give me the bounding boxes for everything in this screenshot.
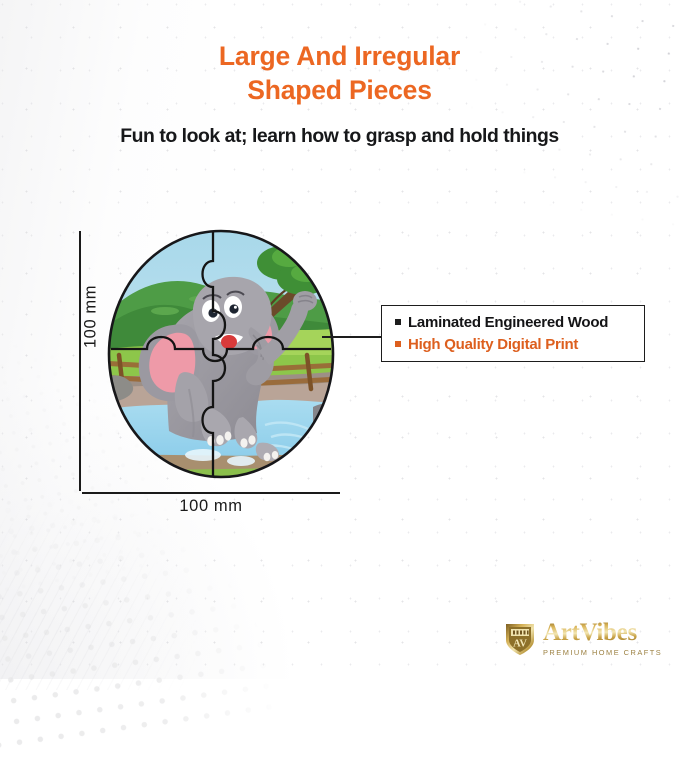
width-dimension-line [82,492,340,494]
width-dimension-label: 100 mm [82,497,340,516]
callout-leader-line [322,336,382,338]
page-subtitle: Fun to look at; learn how to grasp and h… [0,125,679,148]
callout-item-print: High Quality Digital Print [395,334,634,356]
square-bullet-icon [395,341,401,347]
callout-item-wood: Laminated Engineered Wood [395,312,634,334]
brand-name: ArtVibes [543,621,662,646]
page-title: Large And Irregular Shaped Pieces [0,40,679,107]
svg-text:AV: AV [513,639,527,650]
callout-item-wood-label: Laminated Engineered Wood [408,312,608,334]
shield-crest-icon: AV [503,620,537,658]
brand-tagline: PREMIUM HOME CRAFTS [543,648,662,657]
page-title-line-2: Shaped Pieces [0,74,679,108]
square-bullet-icon [395,319,401,325]
logo-text-block: ArtVibes PREMIUM HOME CRAFTS [543,621,662,657]
callout-item-print-label: High Quality Digital Print [408,334,578,356]
puzzle-product-image [107,229,335,479]
height-dimension-label: 100 mm [82,269,101,365]
infographic-canvas: Large And Irregular Shaped Pieces Fun to… [0,0,679,679]
puzzle-illustration [107,229,335,479]
page-title-line-1: Large And Irregular [0,40,679,74]
material-callout-box: Laminated Engineered Wood High Quality D… [381,305,645,362]
brand-logo: AV ArtVibes PREMIUM HOME CRAFTS [503,620,662,658]
